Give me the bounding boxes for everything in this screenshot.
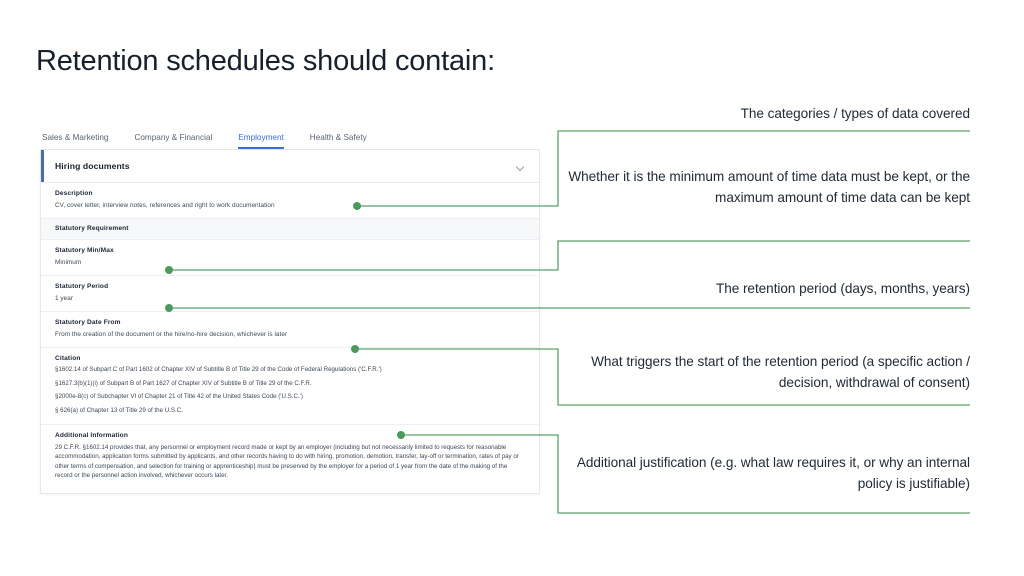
field-row-description: Description CV, cover letter, interview … [41,183,539,219]
card-title: Hiring documents [55,161,130,171]
hiring-documents-card: Hiring documents Description CV, cover l… [40,150,540,494]
field-value: CV, cover letter, interview notes, refer… [55,201,525,210]
annotation-categories: The categories / types of data covered [560,103,970,124]
field-row-citation: Citation §1602.14 of Subpart C of Part 1… [41,348,539,424]
citation-line: §2000e-8(c) of Subchapter VI of Chapter … [55,393,525,401]
category-tab-bar: Sales & Marketing Company & Financial Em… [40,127,540,150]
annotation-min-max: Whether it is the minimum amount of time… [560,166,970,208]
field-label: Statutory Min/Max [55,247,525,255]
tab-employment[interactable]: Employment [238,134,284,149]
citation-line: § 626(a) of Chapter 13 of Title 29 of th… [55,407,525,415]
section-label: Statutory Requirement [55,225,525,233]
field-row-statutory-min-max: Statutory Min/Max Minimum [41,240,539,276]
annotation-retention-period: The retention period (days, months, year… [560,278,970,299]
tab-company-financial[interactable]: Company & Financial [134,134,212,149]
field-value: 1 year [55,294,525,303]
card-header-toggle[interactable]: Hiring documents [41,150,539,183]
field-label: Additional Information [55,432,525,440]
chevron-down-icon[interactable] [516,162,525,171]
tab-sales-marketing[interactable]: Sales & Marketing [42,134,108,149]
field-value: 29 C.F.R. §1602.14 provides that, any pe… [55,443,525,481]
field-value: Minimum [55,258,525,267]
citation-line: §1627.3(b)(1)(i) of Subpart B of Part 16… [55,380,525,388]
field-row-statutory-date-from: Statutory Date From From the creation of… [41,312,539,348]
citation-line: §1602.14 of Subpart C of Part 1602 of Ch… [55,366,525,374]
tab-health-safety[interactable]: Health & Safety [310,134,367,149]
field-label: Description [55,190,525,198]
field-label: Citation [55,355,525,363]
retention-schedule-app: Sales & Marketing Company & Financial Em… [40,127,540,494]
page-title: Retention schedules should contain: [36,45,495,78]
slide-canvas: Retention schedules should contain: Sale… [0,0,1024,576]
annotation-trigger: What triggers the start of the retention… [560,351,970,393]
field-row-additional-information: Additional Information 29 C.F.R. §1602.1… [41,425,539,493]
field-row-statutory-period: Statutory Period 1 year [41,276,539,312]
annotation-justification: Additional justification (e.g. what law … [560,452,970,494]
field-label: Statutory Period [55,283,525,291]
section-header-statutory-requirement: Statutory Requirement [41,219,539,240]
field-value: From the creation of the document or the… [55,330,525,339]
field-label: Statutory Date From [55,319,525,327]
